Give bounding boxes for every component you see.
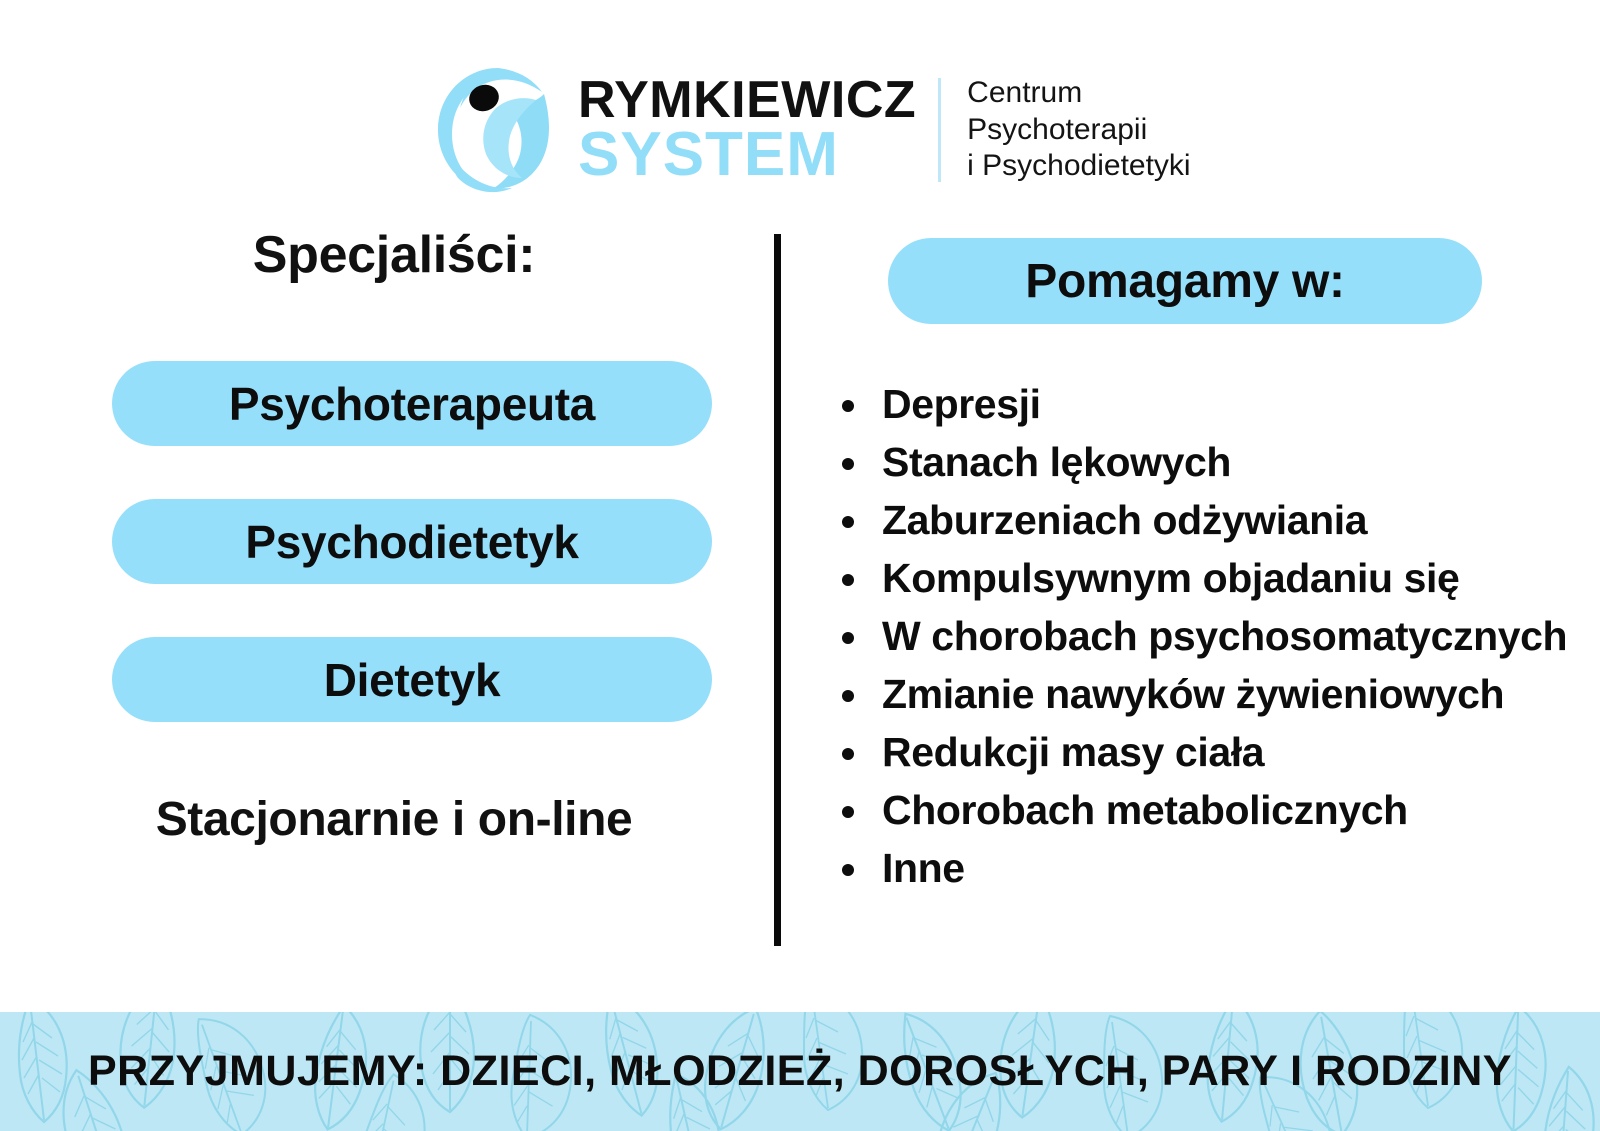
list-item: Redukcji masy ciała — [820, 724, 1590, 781]
services-list: Depresji Stanach lękowych Zaburzeniach o… — [810, 376, 1590, 897]
services-heading-label: Pomagamy w: — [1025, 254, 1344, 309]
specialist-pill-psychodietetyk[interactable]: Psychodietetyk — [112, 499, 712, 584]
banner-text: PRZYJMUJEMY: DZIECI, MŁODZIEŻ, DOROSŁYCH… — [0, 1012, 1600, 1131]
tagline-line-3: i Psychodietetyki — [967, 148, 1190, 185]
specialist-label: Dietetyk — [324, 653, 501, 707]
specialist-label: Psychodietetyk — [245, 515, 578, 569]
brand-logo: RYMKIEWICZ SYSTEM Centrum Psychoterapii … — [432, 60, 1191, 200]
tagline-line-2: Psychoterapii — [967, 112, 1190, 149]
specialists-heading: Specjaliści: — [0, 225, 760, 285]
services-column: Pomagamy w: Depresji Stanach lękowych Za… — [810, 238, 1590, 898]
list-item: Zaburzeniach odżywiania — [820, 492, 1590, 549]
services-heading-pill: Pomagamy w: — [888, 238, 1482, 324]
bottom-banner: PRZYJMUJEMY: DZIECI, MŁODZIEŻ, DOROSŁYCH… — [0, 1012, 1600, 1131]
list-item: Chorobach metabolicznych — [820, 782, 1590, 839]
poster-canvas: RYMKIEWICZ SYSTEM Centrum Psychoterapii … — [0, 0, 1600, 1131]
list-item: Stanach lękowych — [820, 434, 1590, 491]
list-item: Inne — [820, 840, 1590, 897]
specialist-label: Psychoterapeuta — [229, 377, 595, 431]
list-item: Depresji — [820, 376, 1590, 433]
column-divider — [774, 234, 781, 946]
tagline-line-1: Centrum — [967, 75, 1190, 112]
water-drop-leaf-icon — [432, 64, 564, 196]
availability-note: Stacjonarnie i on-line — [0, 792, 760, 847]
list-item: W chorobach psychosomatycznych — [820, 608, 1590, 665]
brand-name-line2: SYSTEM — [578, 126, 916, 183]
brand-wordmark: RYMKIEWICZ SYSTEM — [578, 77, 916, 184]
specialist-pill-psychoterapeuta[interactable]: Psychoterapeuta — [112, 361, 712, 446]
logo-separator — [938, 78, 941, 182]
specialists-column: Specjaliści: Psychoterapeuta Psychodiete… — [0, 225, 760, 847]
brand-tagline: Centrum Psychoterapii i Psychodietetyki — [967, 75, 1190, 185]
specialist-pill-dietetyk[interactable]: Dietetyk — [112, 637, 712, 722]
brand-name-line1: RYMKIEWICZ — [578, 77, 916, 125]
specialists-list: Psychoterapeuta Psychodietetyk Dietetyk — [0, 361, 760, 722]
list-item: Zmianie nawyków żywieniowych — [820, 666, 1590, 723]
list-item: Kompulsywnym objadaniu się — [820, 550, 1590, 607]
